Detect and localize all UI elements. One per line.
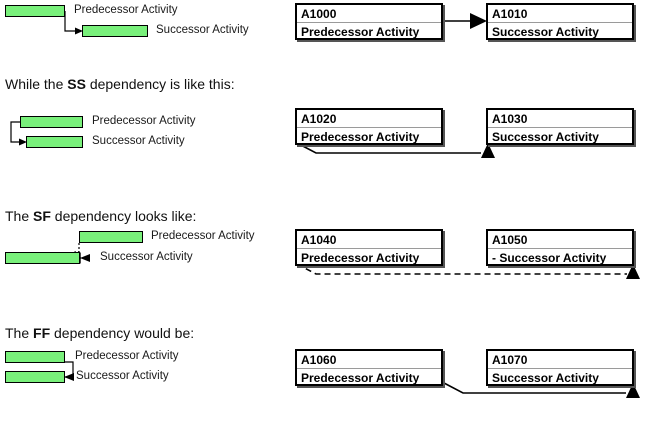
heading-sf: The SF dependency looks like: bbox=[5, 208, 196, 224]
gantt-bar-predecessor-fs bbox=[5, 5, 65, 17]
network-node-a1010[interactable]: A1010 Successor Activity bbox=[486, 3, 634, 40]
gantt-label-predecessor-ff: Predecessor Activity bbox=[75, 350, 179, 362]
node-name-a1040: Predecessor Activity bbox=[297, 249, 441, 266]
node-id-a1020: A1020 bbox=[297, 110, 441, 128]
node-id-a1030: A1030 bbox=[488, 110, 632, 128]
heading-ff: The FF dependency would be: bbox=[5, 325, 194, 341]
heading-sf-code: SF bbox=[33, 208, 51, 224]
gantt-label-successor-fs: Successor Activity bbox=[156, 24, 249, 36]
node-name-a1070: Successor Activity bbox=[488, 369, 632, 386]
network-link-ss bbox=[297, 143, 495, 158]
heading-ff-prefix: The bbox=[5, 325, 33, 341]
diagram-canvas: Predecessor Activity Successor Activity … bbox=[0, 0, 650, 423]
node-name-a1010: Successor Activity bbox=[488, 23, 632, 40]
node-id-a1040: A1040 bbox=[297, 231, 441, 249]
node-name-a1050: - Successor Activity bbox=[488, 249, 632, 266]
gantt-label-predecessor-fs: Predecessor Activity bbox=[74, 4, 178, 16]
heading-ss-suffix: dependency is like this: bbox=[86, 76, 235, 92]
heading-sf-prefix: The bbox=[5, 208, 33, 224]
network-node-a1040[interactable]: A1040 Predecessor Activity bbox=[295, 229, 443, 266]
node-id-a1060: A1060 bbox=[297, 351, 441, 369]
node-name-a1020: Predecessor Activity bbox=[297, 128, 441, 145]
gantt-label-successor-ff: Successor Activity bbox=[76, 370, 169, 382]
gantt-bar-successor-ff bbox=[5, 371, 65, 383]
network-node-a1000[interactable]: A1000 Predecessor Activity bbox=[295, 3, 443, 40]
node-id-a1000: A1000 bbox=[297, 5, 441, 23]
heading-sf-suffix: dependency looks like: bbox=[51, 208, 197, 224]
network-node-a1030[interactable]: A1030 Successor Activity bbox=[486, 108, 634, 145]
heading-ff-suffix: dependency would be: bbox=[50, 325, 194, 341]
gantt-label-successor-ss: Successor Activity bbox=[92, 135, 185, 147]
network-node-a1060[interactable]: A1060 Predecessor Activity bbox=[295, 349, 443, 386]
gantt-bar-predecessor-sf bbox=[79, 231, 143, 243]
heading-ff-code: FF bbox=[33, 325, 50, 341]
gantt-bar-successor-fs bbox=[82, 25, 148, 37]
network-link-fs bbox=[444, 13, 487, 29]
gantt-bar-predecessor-ss bbox=[20, 116, 83, 128]
node-id-a1050: A1050 bbox=[488, 231, 632, 249]
gantt-link-ff bbox=[64, 362, 74, 381]
gantt-label-predecessor-sf: Predecessor Activity bbox=[151, 230, 255, 242]
network-link-sf bbox=[297, 264, 640, 279]
heading-ss: While the SS dependency is like this: bbox=[5, 76, 235, 92]
gantt-label-predecessor-ss: Predecessor Activity bbox=[92, 115, 196, 127]
gantt-bar-successor-ss bbox=[26, 136, 83, 148]
network-node-a1020[interactable]: A1020 Predecessor Activity bbox=[295, 108, 443, 145]
node-name-a1000: Predecessor Activity bbox=[297, 23, 441, 40]
gantt-label-successor-sf: Successor Activity bbox=[100, 251, 193, 263]
node-name-a1060: Predecessor Activity bbox=[297, 369, 441, 386]
network-node-a1050[interactable]: A1050 - Successor Activity bbox=[486, 229, 634, 266]
heading-ss-code: SS bbox=[67, 76, 86, 92]
node-id-a1010: A1010 bbox=[488, 5, 632, 23]
node-name-a1030: Successor Activity bbox=[488, 128, 632, 145]
network-node-a1070[interactable]: A1070 Successor Activity bbox=[486, 349, 634, 386]
gantt-bar-predecessor-ff bbox=[5, 351, 65, 363]
gantt-bar-successor-sf bbox=[5, 252, 80, 264]
heading-ss-prefix: While the bbox=[5, 76, 67, 92]
node-id-a1070: A1070 bbox=[488, 351, 632, 369]
